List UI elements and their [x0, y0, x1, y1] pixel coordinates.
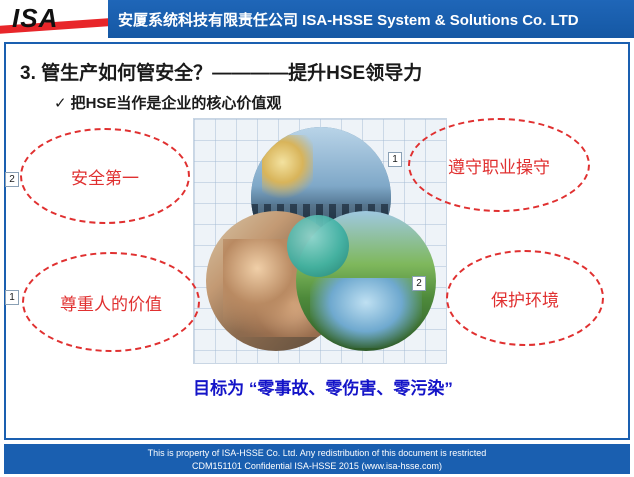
image-marker-1: 1 [388, 152, 402, 167]
goal-statement: 目标为 “零事故、零伤害、零污染” [188, 374, 458, 399]
subtitle-text: 把HSE当作是企业的核心价值观 [71, 95, 282, 112]
callout-label-1: 安全第一 [71, 164, 139, 189]
callout-label-4: 保护环境 [491, 286, 559, 311]
slide-header: ISA 安厦系统科技有限责任公司 ISA-HSSE System & Solut… [0, 0, 634, 38]
company-logo: ISA [0, 0, 108, 38]
logo-text: ISA [12, 3, 58, 34]
callout-label-2: 尊重人的价值 [60, 290, 162, 315]
margin-marker-1: 1 [5, 290, 19, 305]
image-marker-2: 2 [412, 276, 426, 291]
footer-line-1: This is property of ISA-HSSE Co. Ltd. An… [4, 447, 630, 460]
page-title: 3. 管生产如何管安全？————提升HSE领导力 [20, 58, 422, 85]
callout-professional-ethics: 遵守职业操守 [408, 118, 590, 212]
callout-label-3: 遵守职业操守 [448, 153, 550, 178]
header-title: 安厦系统科技有限责任公司 ISA-HSSE System & Solutions… [118, 9, 579, 30]
margin-marker-2: 2 [5, 172, 19, 187]
footer-line-2: CDM151101 Confidential ISA-HSSE 2015 (ww… [4, 460, 630, 473]
venn-center-overlap [287, 215, 349, 277]
callout-safety-first: 安全第一 [20, 128, 190, 224]
callout-protect-environment: 保护环境 [446, 250, 604, 346]
check-icon: ✓ [54, 95, 67, 112]
slide-footer: This is property of ISA-HSSE Co. Ltd. An… [4, 444, 630, 474]
callout-respect-people: 尊重人的价值 [22, 252, 200, 352]
slide-canvas: ISA 安厦系统科技有限责任公司 ISA-HSSE System & Solut… [0, 0, 634, 477]
slide-body: 3. 管生产如何管安全？————提升HSE领导力 ✓把HSE当作是企业的核心价值… [4, 42, 630, 440]
subtitle-row: ✓把HSE当作是企业的核心价值观 [54, 92, 281, 113]
